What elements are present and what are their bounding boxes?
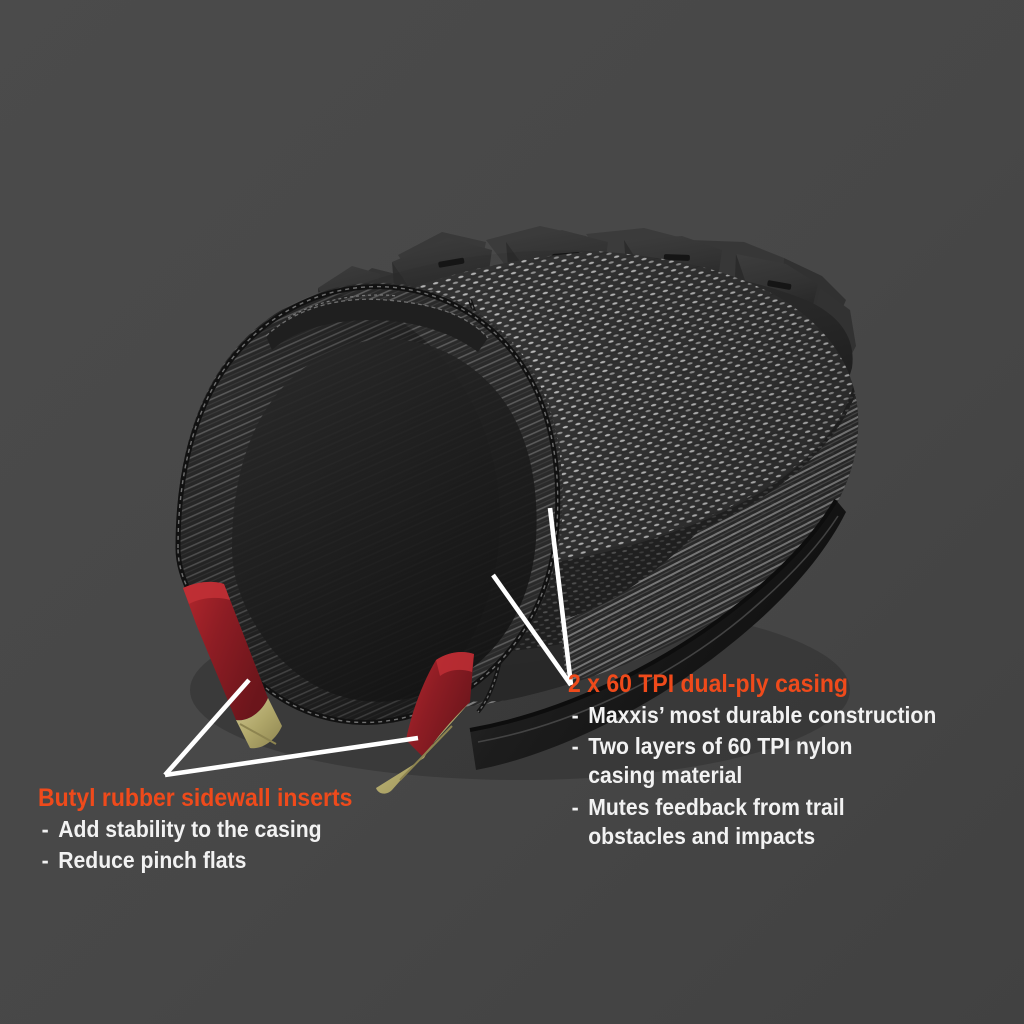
bullet-dash: - bbox=[42, 846, 49, 875]
list-item: - Two layers of 60 TPI nylon casing mate… bbox=[568, 732, 936, 790]
list-item: - Mutes feedback from trail obstacles an… bbox=[568, 793, 936, 851]
list-item-text: Maxxis’ most durable construction bbox=[588, 701, 936, 730]
list-item-text: Reduce pinch flats bbox=[58, 846, 352, 875]
list-item-text: Two layers of 60 TPI nylon casing materi… bbox=[588, 732, 892, 790]
infographic-canvas: Downhill Construction bbox=[0, 0, 1024, 1024]
list-item: - Add stability to the casing bbox=[38, 815, 352, 844]
bullet-dash: - bbox=[42, 815, 49, 844]
callout-heading: 2 x 60 TPI dual-ply casing bbox=[568, 670, 936, 698]
bullet-dash: - bbox=[572, 732, 579, 761]
list-item: - Reduce pinch flats bbox=[38, 846, 352, 875]
callout-bullet-list: - Add stability to the casing - Reduce p… bbox=[38, 815, 380, 875]
list-item-text: Mutes feedback from trail obstacles and … bbox=[588, 793, 915, 851]
bullet-dash: - bbox=[572, 701, 579, 730]
bullet-dash: - bbox=[572, 793, 579, 822]
list-item: - Maxxis’ most durable construction bbox=[568, 701, 936, 730]
callout-dual-ply-casing: 2 x 60 TPI dual-ply casing - Maxxis’ mos… bbox=[568, 670, 968, 853]
callout-heading: Butyl rubber sidewall inserts bbox=[38, 784, 352, 812]
list-item-text: Add stability to the casing bbox=[58, 815, 352, 844]
callout-bullet-list: - Maxxis’ most durable construction - Tw… bbox=[568, 701, 968, 851]
callout-butyl-rubber-sidewall-inserts: Butyl rubber sidewall inserts - Add stab… bbox=[38, 784, 380, 877]
